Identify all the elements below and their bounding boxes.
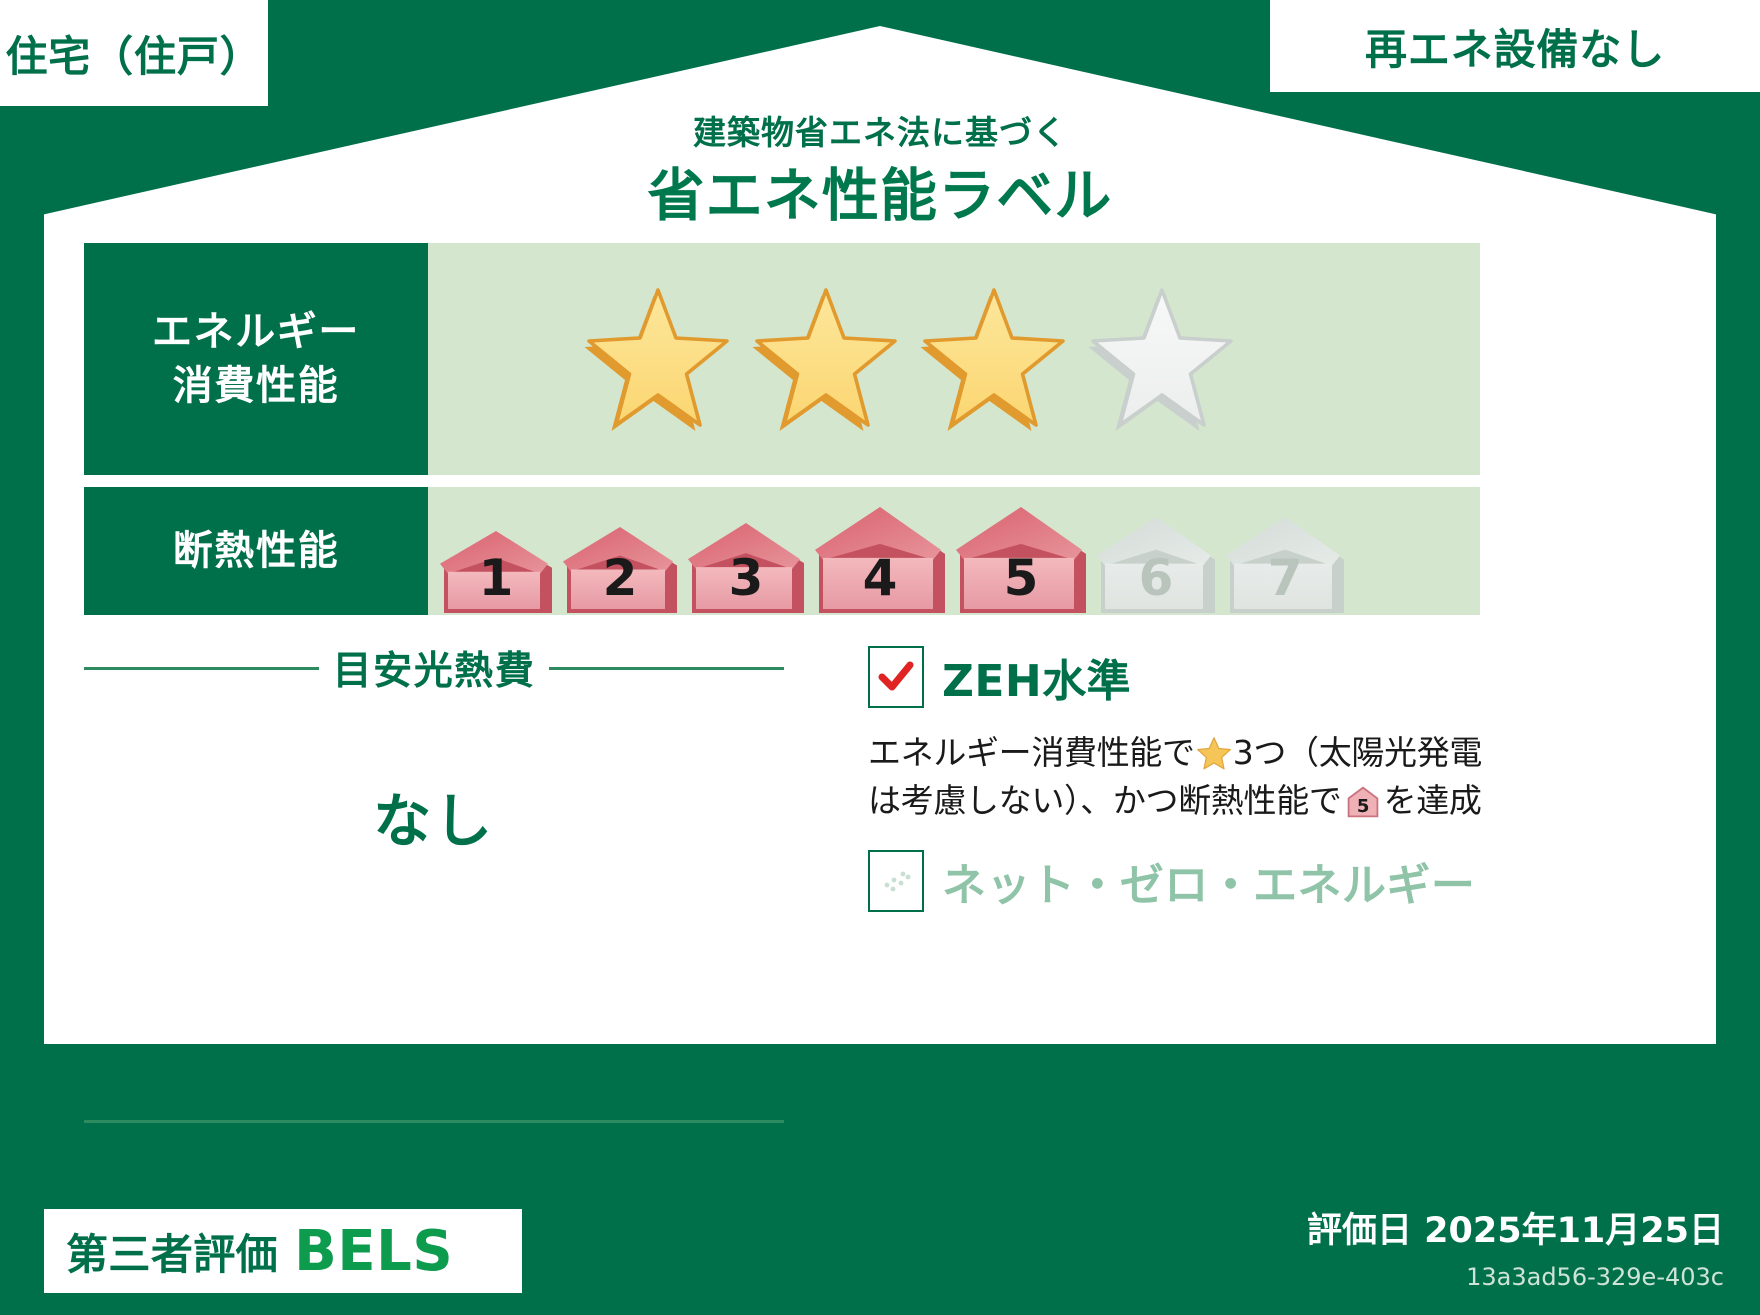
cost-bottom-divider (84, 1120, 784, 1123)
insulation-level-number: 5 (954, 549, 1088, 607)
zeh-block: ZEH水準 エネルギー消費性能で 3つ（太陽光発電 は考慮しない）、かつ断熱性能… (868, 645, 1488, 913)
insulation-label-text: 断熱性能 (173, 524, 339, 578)
zeh-desc-part4: を達成 (1384, 781, 1482, 820)
star-filled-icon (916, 284, 1072, 434)
insulation-level-number: 6 (1095, 549, 1217, 607)
svg-text:5: 5 (1356, 796, 1368, 817)
insulation-level-number: 7 (1224, 549, 1346, 607)
renewable-equipment-badge: 再エネ設備なし (1270, 0, 1760, 92)
inline-house-icon: 5 (1345, 784, 1381, 820)
zeh-checkbox-checked[interactable] (868, 646, 924, 708)
insulation-house-empty: 6 (1095, 513, 1217, 615)
zeh-desc-part2: 3つ（太陽光発電 (1233, 733, 1482, 772)
estimated-utility-cost-block: 目安光熱費 なし (84, 640, 784, 858)
star-empty-icon (1084, 284, 1240, 434)
label-subtitle: 建築物省エネ法に基づく (0, 106, 1760, 154)
zeh-standard-row[interactable]: ZEH水準 (868, 645, 1488, 709)
zeh-standard-label: ZEH水準 (942, 645, 1131, 709)
insulation-performance-panel: 1234567 (428, 487, 1480, 615)
star-filled-icon (580, 284, 736, 434)
bels-logo-text: BELS (294, 1219, 453, 1284)
evaluation-date: 評価日 2025年11月25日 (1307, 1202, 1724, 1253)
insulation-level-scale: 1234567 (428, 487, 1346, 615)
zeh-desc-part1: エネルギー消費性能で (868, 733, 1195, 772)
insulation-level-number: 3 (686, 549, 806, 607)
insulation-performance-label: 断熱性能 (84, 487, 428, 615)
net-zero-energy-checkbox-unchecked[interactable] (868, 850, 924, 912)
insulation-house-filled: 2 (561, 523, 679, 615)
energy-label-line2: 消費性能 (173, 359, 339, 413)
third-party-eval-text: 第三者評価 (66, 1221, 278, 1282)
insulation-house-filled: 4 (813, 503, 947, 615)
zeh-description: エネルギー消費性能で 3つ（太陽光発電 は考慮しない）、かつ断熱性能で 5 を達… (868, 729, 1488, 825)
energy-performance-row: エネルギー 消費性能 (84, 243, 1480, 475)
insulation-house-empty: 7 (1224, 513, 1346, 615)
footer: 第三者評価 BELS 知多市新知斉宮畑2棟 1号棟-83875018-0001 … (0, 1187, 1760, 1315)
insulation-level-number: 2 (561, 549, 679, 607)
estimated-utility-cost-value: なし (84, 774, 784, 858)
bels-label-root: 住宅（住戸） 再エネ設備なし 建築物省エネ法に基づく 省エネ性能ラベル エネルギ… (0, 0, 1760, 1315)
insulation-level-number: 4 (813, 549, 947, 607)
estimated-utility-cost-title: 目安光熱費 (333, 640, 536, 696)
divider-left (84, 667, 319, 670)
label-title: 省エネ性能ラベル (0, 150, 1760, 232)
star-filled-icon (748, 284, 904, 434)
net-zero-energy-label: ネット・ゼロ・エネルギー (942, 849, 1475, 913)
property-address: 知多市新知斉宮畑2棟 1号棟-83875018-0001 (530, 1220, 1050, 1297)
energy-label-line1: エネルギー (152, 305, 360, 359)
insulation-house-filled: 3 (686, 519, 806, 615)
insulation-house-filled: 5 (954, 503, 1088, 615)
divider-right (549, 667, 784, 670)
insulation-house-filled: 1 (438, 527, 554, 615)
insulation-level-number: 1 (438, 549, 554, 607)
inline-star-icon (1197, 735, 1231, 769)
energy-performance-label: エネルギー 消費性能 (84, 243, 428, 475)
estimated-utility-cost-header: 目安光熱費 (84, 640, 784, 696)
star-rating (580, 284, 1240, 434)
bels-plate: 第三者評価 BELS (44, 1209, 522, 1293)
building-type-badge: 住宅（住戸） (0, 0, 268, 106)
evaluation-id: 13a3ad56-329e-403c (1466, 1263, 1724, 1291)
zeh-desc-part3: は考慮しない）、かつ断熱性能で (868, 781, 1342, 820)
net-zero-energy-row[interactable]: ネット・ゼロ・エネルギー (868, 849, 1488, 913)
energy-performance-panel (428, 243, 1480, 475)
insulation-performance-row: 断熱性能 1234567 (84, 487, 1480, 615)
